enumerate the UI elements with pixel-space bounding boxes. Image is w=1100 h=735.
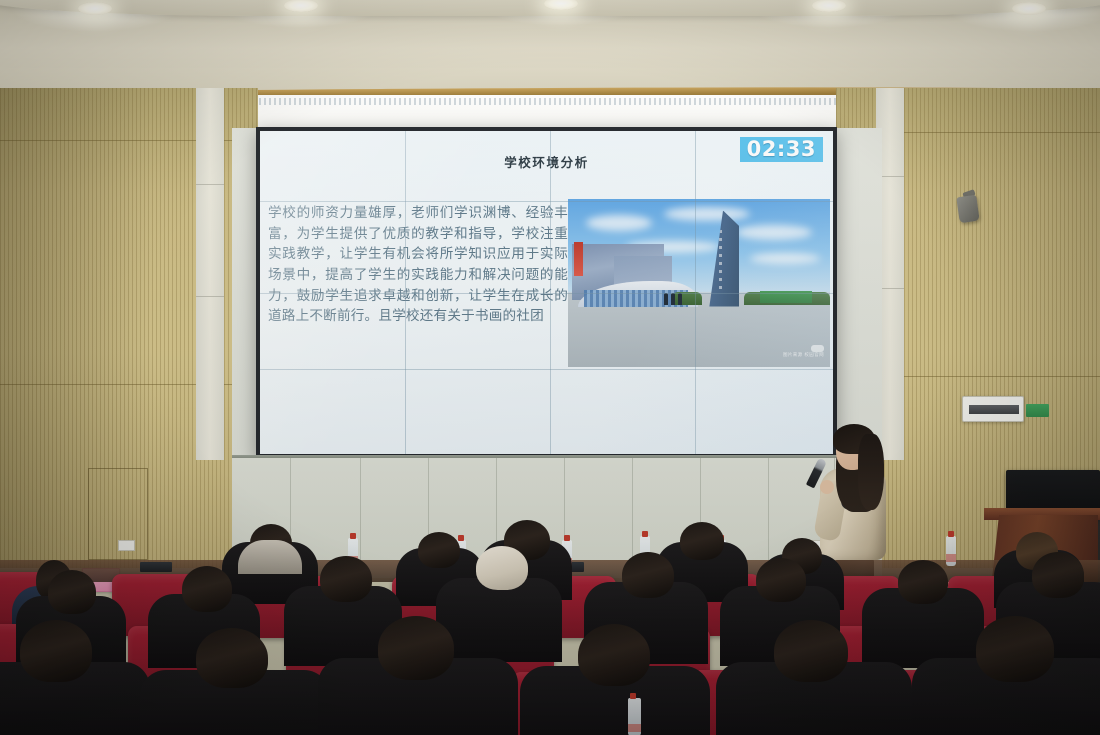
presenter-hair-side bbox=[858, 434, 884, 510]
photo-watermark-text: 图片来源 校园官网 bbox=[783, 353, 824, 358]
audience-head bbox=[320, 556, 372, 602]
audience-head bbox=[578, 624, 650, 686]
audience-head bbox=[976, 616, 1054, 682]
audience-head-with-beanie bbox=[476, 546, 528, 590]
audience-head bbox=[20, 620, 92, 682]
audience-member bbox=[436, 578, 562, 662]
ceiling bbox=[0, 0, 1100, 78]
slide-photo: 图片来源 校园官网 bbox=[568, 199, 830, 367]
audience-head bbox=[680, 522, 724, 560]
audience-head bbox=[1032, 552, 1084, 598]
slide-body-text: 学校的师资力量雄厚，老师们学识渊博、经验丰富，为学生提供了优质的教学和指导，学校… bbox=[268, 203, 568, 327]
panel-seam bbox=[260, 369, 833, 370]
panel-seam bbox=[260, 293, 833, 294]
audience-head bbox=[196, 628, 268, 688]
downlight-icon bbox=[78, 2, 112, 15]
audience-area bbox=[0, 520, 1100, 735]
audience-head bbox=[48, 570, 96, 614]
presentation-screen[interactable]: 学校环境分析 02:33 学校的师资力量雄厚，老师们学识渊博、经验丰富，为学生提… bbox=[260, 131, 833, 454]
slide-paragraph: 学校的师资力量雄厚，老师们学识渊博、经验丰富，为学生提供了优质的教学和指导，学校… bbox=[268, 203, 568, 327]
audience-head bbox=[774, 620, 848, 682]
laptop[interactable] bbox=[140, 562, 172, 572]
photo-watermark: 图片来源 校园官网 bbox=[783, 345, 824, 360]
water-bottle bbox=[946, 536, 956, 566]
audience-member bbox=[238, 540, 302, 574]
panel-seam bbox=[260, 201, 833, 202]
presenter-hand bbox=[820, 480, 834, 494]
audience-head bbox=[182, 566, 232, 612]
audience-head bbox=[898, 560, 948, 604]
audience-head bbox=[378, 616, 454, 680]
water-bottle bbox=[628, 698, 641, 735]
audience-head bbox=[418, 532, 460, 568]
lecture-hall-scene: 学校环境分析 02:33 学校的师资力量雄厚，老师们学识渊博、经验丰富，为学生提… bbox=[0, 0, 1100, 735]
left-pillar bbox=[196, 88, 224, 460]
exit-sign-icon bbox=[1026, 404, 1049, 417]
photo-banner bbox=[574, 242, 583, 276]
electrical-panel-box[interactable] bbox=[962, 396, 1024, 422]
countdown-timer: 02:33 bbox=[740, 137, 823, 162]
audience-head bbox=[622, 552, 674, 598]
wall-speaker-icon bbox=[956, 195, 979, 224]
video-wall-bezel: 学校环境分析 02:33 学校的师资力量雄厚，老师们学识渊博、经验丰富，为学生提… bbox=[256, 127, 837, 458]
audience-head bbox=[756, 558, 806, 602]
downlight-icon bbox=[1012, 2, 1046, 15]
